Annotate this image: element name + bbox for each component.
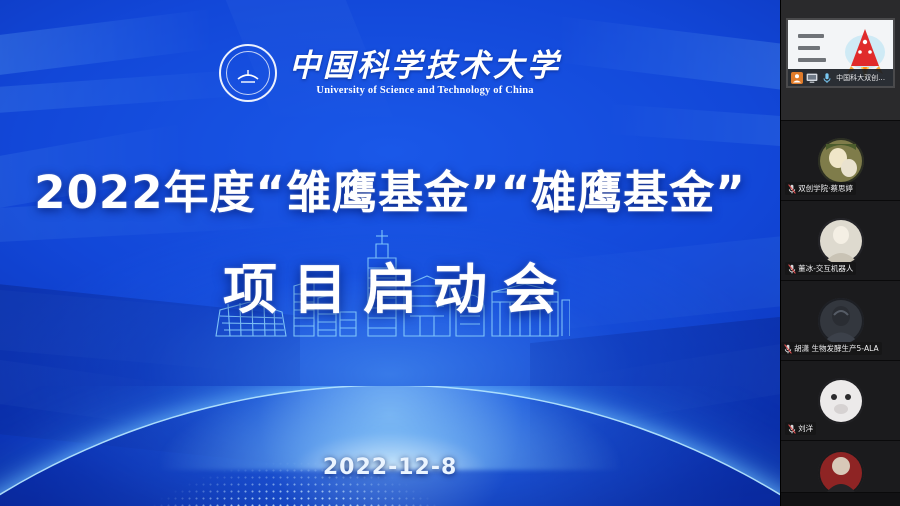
mic-muted-icon <box>788 424 796 434</box>
participant-name: 胡潇 生物发酵生产5-ALA <box>794 343 878 354</box>
participant-tile[interactable]: 胡潇 生物发酵生产5-ALA <box>781 281 900 361</box>
participant-tile[interactable] <box>781 441 900 493</box>
participant-name-bar: 董冰-交互机器人 <box>785 262 856 275</box>
video-conference-window: 中国科学技术大学 University of Science and Techn… <box>0 0 900 506</box>
avatar <box>818 138 864 184</box>
participant-name: 双创学院·蔡思婷 <box>798 183 853 194</box>
screen-share-preview: 中国科大双创学院的屏幕... <box>786 18 895 88</box>
participant-name-bar: 刘洋 <box>785 422 816 435</box>
participant-name-bar: 双创学院·蔡思婷 <box>785 182 856 195</box>
slide-title-main: 2022年度“雏鹰基金”“雄鹰基金” <box>0 156 780 221</box>
user-icon <box>791 72 803 84</box>
avatar <box>818 450 864 493</box>
participant-tile[interactable]: 董冰-交互机器人 <box>781 201 900 281</box>
screen-share-owner-label: 中国科大双创学院的屏幕... <box>836 73 890 83</box>
participant-tile[interactable]: 刘洋 <box>781 361 900 441</box>
mic-muted-icon <box>788 264 796 274</box>
microphone-icon <box>821 72 833 84</box>
ustc-logo-english: University of Science and Technology of … <box>316 85 533 96</box>
preview-text-lines <box>798 34 826 62</box>
participant-tile[interactable]: 双创学院·蔡思婷 <box>781 121 900 201</box>
avatar <box>818 298 864 344</box>
participant-name: 董冰-交互机器人 <box>798 263 853 274</box>
screen-share-label-bar: 中国科大双创学院的屏幕... <box>788 69 893 86</box>
avatar <box>818 378 864 424</box>
mic-muted-icon <box>788 184 796 194</box>
avatar <box>818 218 864 264</box>
ustc-logo: 中国科学技术大学 University of Science and Techn… <box>0 44 780 102</box>
screen-share-icon <box>806 72 818 84</box>
ustc-logo-chinese: 中国科学技术大学 <box>289 50 561 83</box>
screen-share-thumbnail-tile[interactable]: 中国科大双创学院的屏幕... <box>781 0 900 121</box>
ustc-seal-icon <box>219 44 277 102</box>
slide-date: 2022-12-8 <box>0 455 780 480</box>
participant-filmstrip[interactable]: 中国科大双创学院的屏幕... <box>780 0 900 506</box>
slide-title-sub: 项目启动会 <box>0 245 780 324</box>
participant-name-bar: 胡潇 生物发酵生产5-ALA <box>781 342 881 355</box>
shared-screen-stage[interactable]: 中国科学技术大学 University of Science and Techn… <box>0 0 780 506</box>
mic-muted-icon <box>784 344 792 354</box>
participant-name: 刘洋 <box>798 423 813 434</box>
